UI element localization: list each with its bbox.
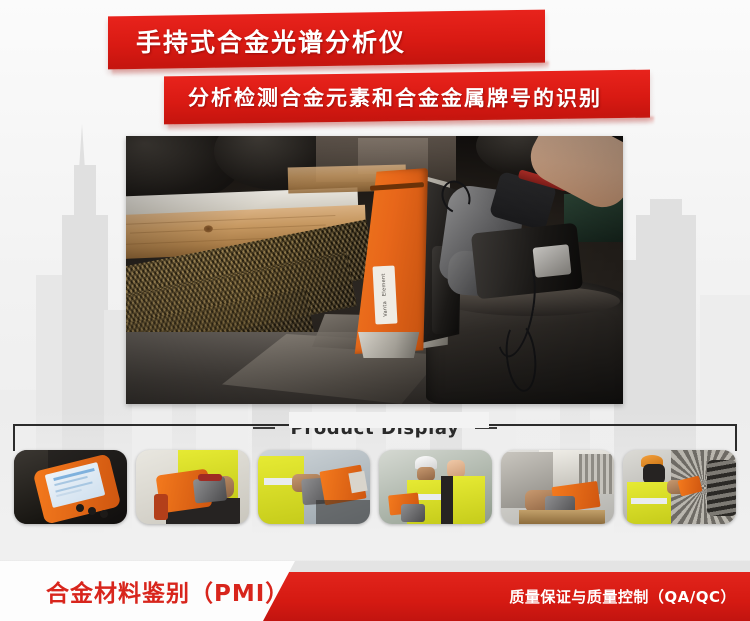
footer-bar: 合金材料鉴别（PMI） 质量保证与质量控制（QA/QC） — [0, 561, 750, 621]
footer-right-label: 质量保证与质量控制（QA/QC） — [509, 572, 736, 621]
product-thumbnail-gallery — [14, 450, 736, 524]
thumbnail-3[interactable] — [258, 450, 371, 524]
thumbnail-2[interactable] — [136, 450, 249, 524]
hero-product-photo: Vanta Element — [126, 136, 623, 404]
product-marketing-page: 手持式合金光谱分析仪 分析检测合金元素和合金金属牌号的识别 — [0, 0, 750, 621]
headline-banner-secondary: 分析检测合金元素和合金金属牌号的识别 — [164, 70, 650, 125]
photo-vignette — [126, 136, 623, 404]
thumbnail-4[interactable] — [379, 450, 492, 524]
thumbnail-5[interactable] — [501, 450, 614, 524]
footer-left-label: 合金材料鉴别（PMI） — [46, 561, 289, 621]
bracket-title-gap — [289, 412, 489, 428]
bracket-right-line — [735, 424, 737, 451]
thumbnail-6[interactable] — [623, 450, 736, 524]
headline-banner-primary-text: 手持式合金光谱分析仪 — [136, 22, 406, 58]
thumbnail-1[interactable] — [14, 450, 127, 524]
bracket-left-line — [13, 424, 15, 451]
headline-banner-primary: 手持式合金光谱分析仪 — [108, 10, 545, 70]
headline-banner-secondary-text: 分析检测合金元素和合金金属牌号的识别 — [188, 82, 602, 113]
